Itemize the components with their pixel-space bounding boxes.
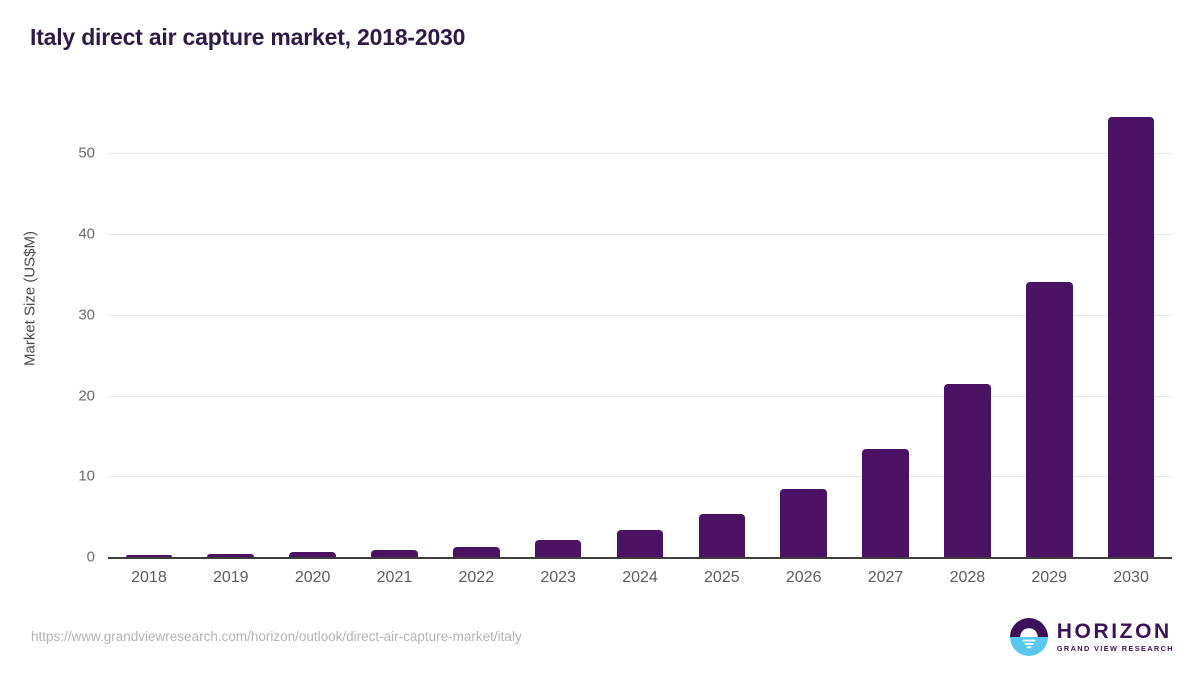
bar[interactable]	[453, 547, 500, 557]
x-axis-tick-label: 2024	[599, 569, 681, 587]
x-axis-tick-label: 2027	[845, 569, 927, 587]
bar[interactable]	[780, 489, 827, 557]
bar[interactable]	[617, 530, 664, 557]
chart-page: Italy direct air capture market, 2018-20…	[0, 0, 1200, 675]
bar[interactable]	[944, 384, 991, 557]
bar-slot: 2024	[599, 109, 681, 557]
bar[interactable]	[535, 540, 582, 557]
y-axis-tick-label: 10	[35, 468, 95, 485]
x-axis-tick-label: 2021	[354, 569, 436, 587]
bar[interactable]	[371, 550, 418, 557]
bar[interactable]	[699, 514, 746, 557]
bar-slot: 2027	[845, 109, 927, 557]
y-axis-tick-label: 40	[35, 226, 95, 243]
x-axis-tick-label: 2029	[1008, 569, 1090, 587]
horizon-logo[interactable]: HORIZON GRAND VIEW RESEARCH	[1010, 616, 1174, 658]
bar-slot: 2026	[763, 109, 845, 557]
logo-tagline: GRAND VIEW RESEARCH	[1057, 645, 1174, 652]
x-axis-tick-label: 2026	[763, 569, 845, 587]
x-axis-line	[108, 557, 1172, 559]
bar[interactable]	[862, 449, 909, 557]
bar-slot: 2023	[517, 109, 599, 557]
bar-slot: 2019	[190, 109, 272, 557]
x-axis-tick-label: 2018	[108, 569, 190, 587]
bar-slot: 2025	[681, 109, 763, 557]
y-axis-tick-label: 50	[35, 145, 95, 162]
bar-slot: 2029	[1008, 109, 1090, 557]
source-url[interactable]: https://www.grandviewresearch.com/horizo…	[31, 629, 522, 644]
y-axis-tick-label: 20	[35, 387, 95, 404]
x-axis-tick-label: 2025	[681, 569, 763, 587]
x-axis-tick-label: 2023	[517, 569, 599, 587]
y-axis-title: Market Size (US$M)	[22, 119, 39, 479]
chart-container: Market Size (US$M) 01020304050 201820192…	[0, 75, 1200, 595]
logo-wordmark: HORIZON	[1057, 621, 1174, 642]
bar-slot: 2022	[435, 109, 517, 557]
bar-slot: 2018	[108, 109, 190, 557]
plot-area: 01020304050 2018201920202021202220232024…	[108, 109, 1172, 559]
bar-slot: 2021	[354, 109, 436, 557]
bar[interactable]	[1108, 117, 1155, 557]
logo-text: HORIZON GRAND VIEW RESEARCH	[1057, 621, 1174, 652]
x-axis-tick-label: 2022	[435, 569, 517, 587]
y-axis-tick-label: 0	[35, 549, 95, 566]
bar[interactable]	[1026, 282, 1073, 557]
x-axis-tick-label: 2020	[272, 569, 354, 587]
bar-slot: 2028	[926, 109, 1008, 557]
x-axis-tick-label: 2028	[926, 569, 1008, 587]
page-title: Italy direct air capture market, 2018-20…	[30, 24, 465, 51]
x-axis-tick-label: 2019	[190, 569, 272, 587]
bar-series: 2018201920202021202220232024202520262027…	[108, 109, 1172, 557]
x-axis-tick-label: 2030	[1090, 569, 1172, 587]
bar-slot: 2030	[1090, 109, 1172, 557]
y-axis-tick-label: 30	[35, 306, 95, 323]
bar-slot: 2020	[272, 109, 354, 557]
horizon-circle-logo-icon	[1010, 618, 1048, 656]
